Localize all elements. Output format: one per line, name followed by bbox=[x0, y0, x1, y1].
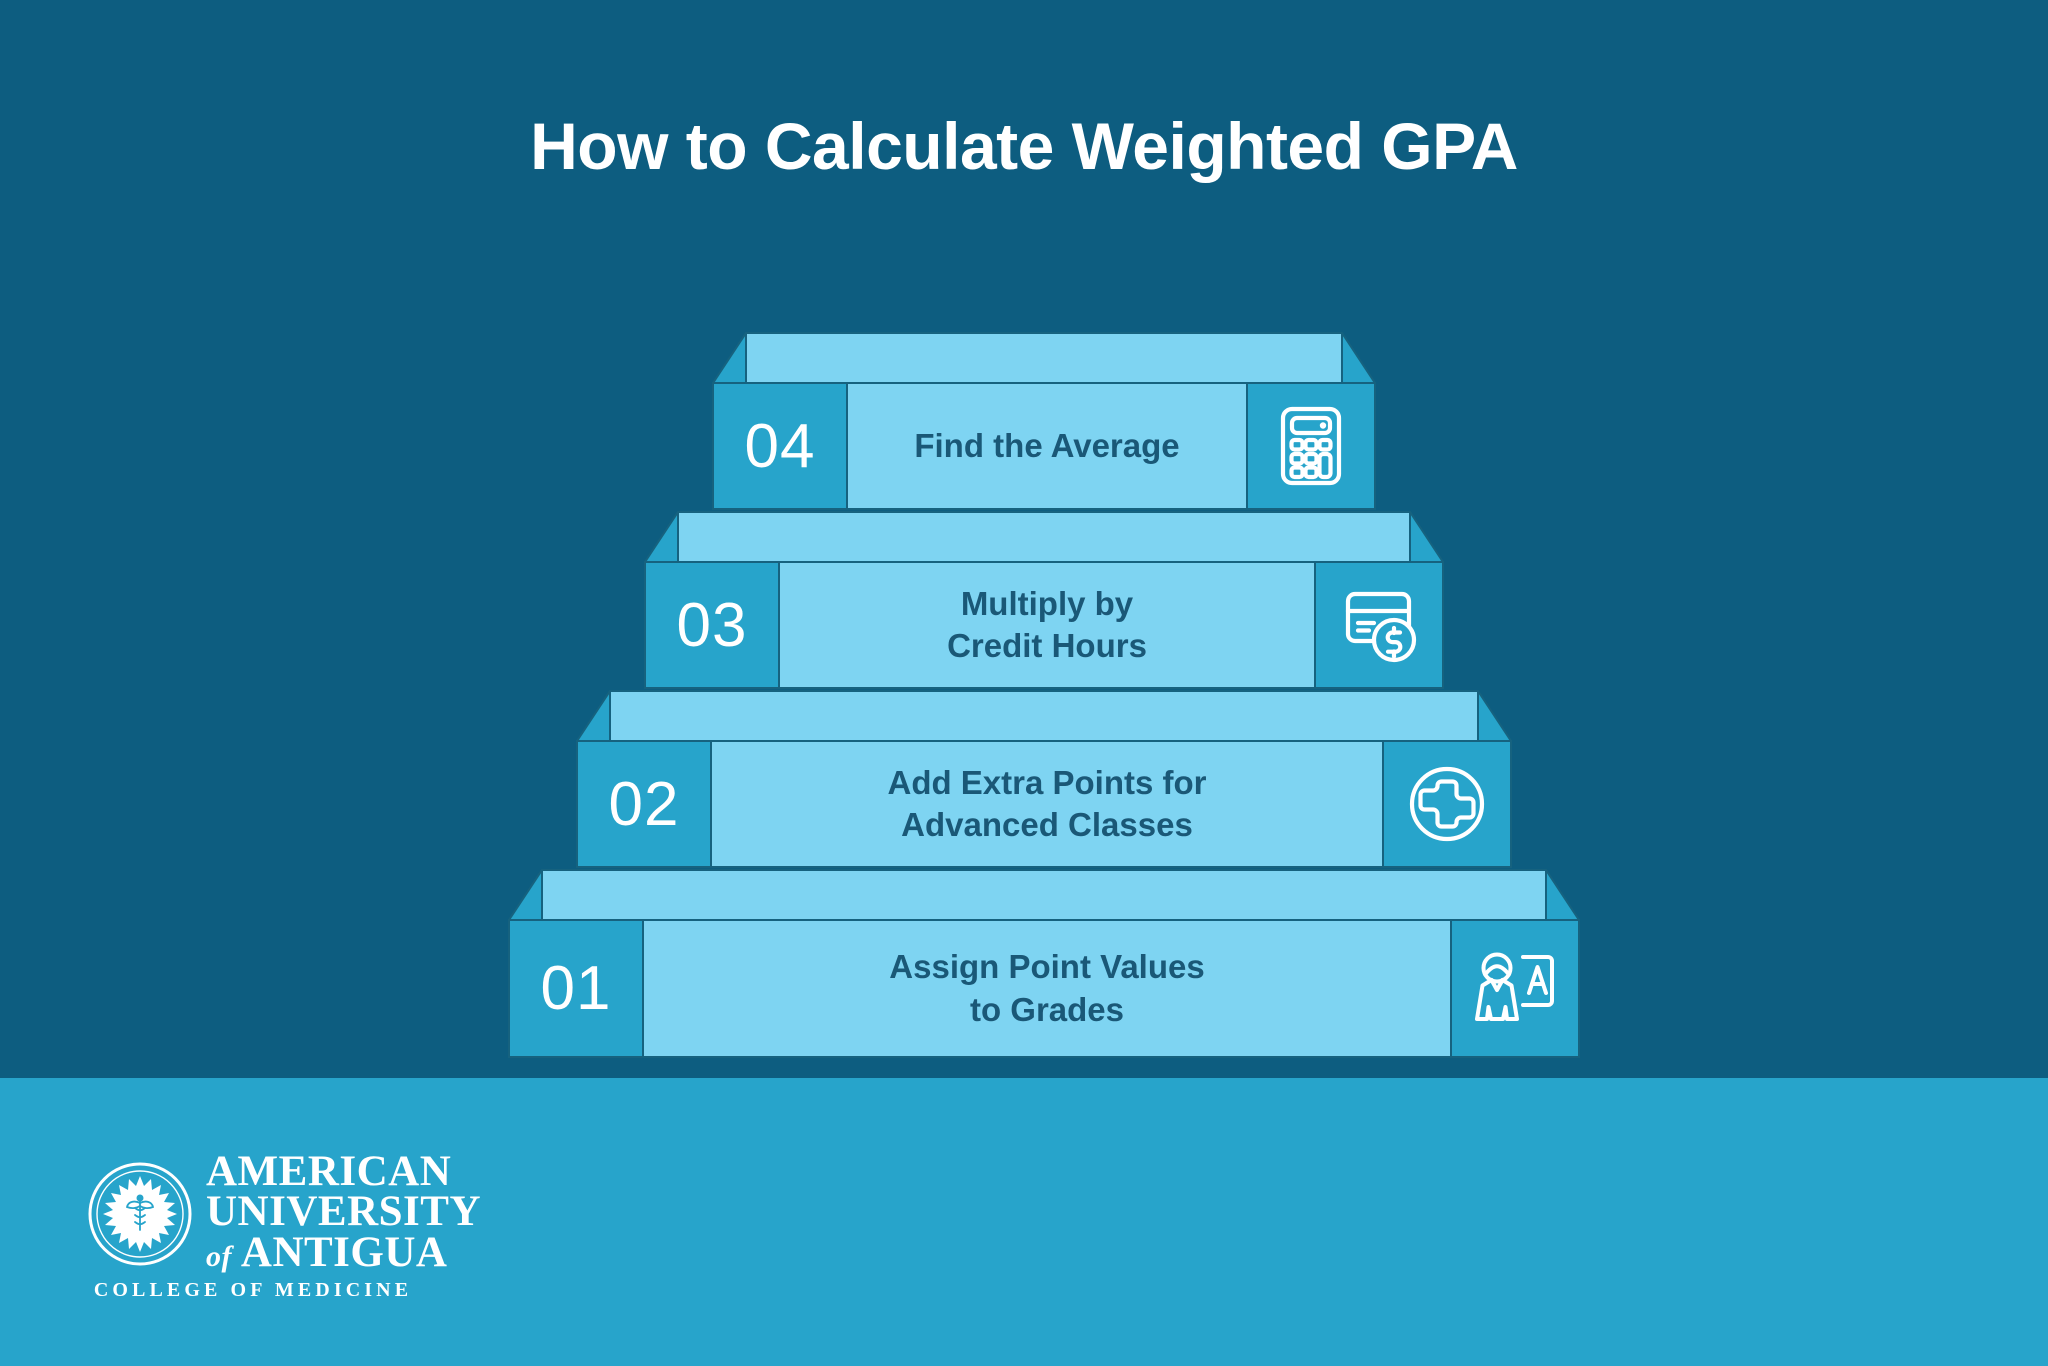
step-03-top-bevel bbox=[644, 511, 1444, 563]
student-grade-icon bbox=[1452, 919, 1580, 1058]
step-03-label: Multiply by Credit Hours bbox=[780, 561, 1316, 689]
step-02-label-line1: Add Extra Points for bbox=[887, 764, 1206, 801]
step-03-label-line1: Multiply by bbox=[961, 585, 1133, 622]
calculator-icon bbox=[1248, 382, 1376, 510]
logo-line-american: AMERICAN bbox=[206, 1152, 456, 1192]
infographic-canvas: How to Calculate Weighted GPA 04 Find th… bbox=[0, 0, 2048, 1366]
logo-antigua: ANTIGUA bbox=[241, 1229, 448, 1276]
step-02-label-line2: Advanced Classes bbox=[901, 806, 1193, 843]
step-02-number: 02 bbox=[576, 740, 712, 868]
step-01-number: 01 bbox=[508, 919, 644, 1058]
step-01-label-line2: to Grades bbox=[970, 991, 1124, 1028]
step-03-front: 03 Multiply by Credit Hours bbox=[644, 561, 1444, 689]
logo-subtitle: COLLEGE OF MEDICINE bbox=[88, 1279, 418, 1302]
step-04-label: Find the Average bbox=[848, 382, 1248, 510]
plus-circle-icon bbox=[1384, 740, 1512, 868]
step-01-label-line1: Assign Point Values bbox=[889, 948, 1204, 985]
step-01-label: Assign Point Values to Grades bbox=[644, 919, 1452, 1058]
step-02-top-bevel bbox=[576, 690, 1512, 742]
step-02-label: Add Extra Points for Advanced Classes bbox=[712, 740, 1384, 868]
logo-line-university: UNIVERSITY bbox=[206, 1192, 456, 1232]
step-04-number: 04 bbox=[712, 382, 848, 510]
logo-wordmark: AMERICAN UNIVERSITY of ANTIGUA bbox=[206, 1152, 456, 1273]
credit-card-dollar-icon bbox=[1316, 561, 1444, 689]
step-01-top-bevel bbox=[508, 869, 1580, 921]
step-02-front: 02 Add Extra Points for Advanced Classes bbox=[576, 740, 1512, 868]
step-03-label-line2: Credit Hours bbox=[947, 627, 1147, 664]
step-01-front: 01 Assign Point Values to Grades bbox=[508, 919, 1580, 1058]
caduceus-seal-icon bbox=[88, 1162, 192, 1266]
logo-line-antigua: of ANTIGUA bbox=[206, 1233, 456, 1273]
logo-of: of bbox=[206, 1240, 232, 1273]
aua-logo[interactable]: AMERICAN UNIVERSITY of ANTIGUA COLLEGE O… bbox=[88, 1152, 418, 1292]
step-03-number: 03 bbox=[644, 561, 780, 689]
step-04-front: 04 Find the Average bbox=[712, 382, 1376, 510]
step-04-top-bevel bbox=[712, 332, 1376, 384]
